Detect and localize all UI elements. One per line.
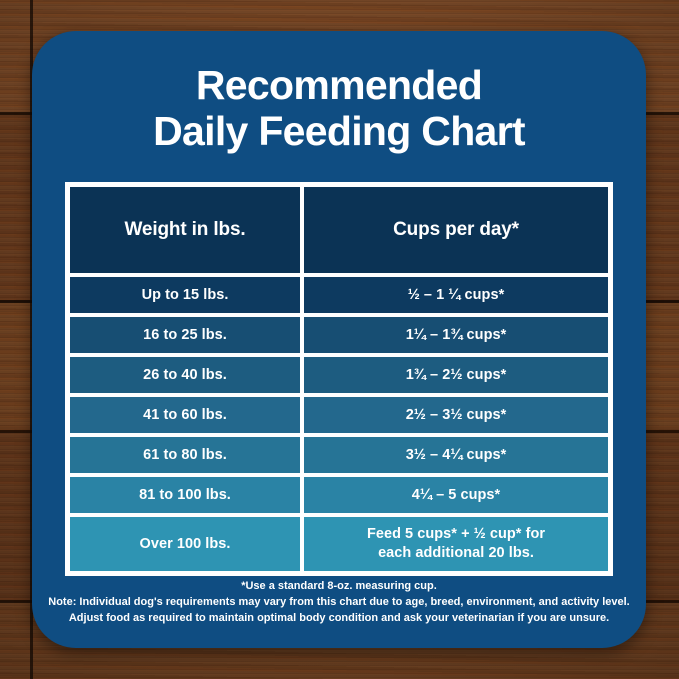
table-header-row: Weight in lbs. Cups per day* (68, 185, 610, 275)
cell-weight: 16 to 25 lbs. (68, 315, 302, 355)
table-row: Over 100 lbs. Feed 5 cups* + ½ cup* for … (68, 515, 610, 573)
footnote-line-2: Note: Individual dog's requirements may … (46, 595, 632, 611)
cell-cups-line-1: Feed 5 cups* + ½ cup* for (367, 525, 545, 544)
footnote-line-1: *Use a standard 8-oz. measuring cup. (46, 579, 632, 595)
cell-weight: Up to 15 lbs. (68, 275, 302, 315)
cell-cups: 2½ – 3½ cups* (302, 395, 610, 435)
page-title: Recommended Daily Feeding Chart (32, 63, 646, 155)
cell-cups: ½ – 1 ¼ cups* (302, 275, 610, 315)
cell-weight: Over 100 lbs. (68, 515, 302, 573)
column-header-cups: Cups per day* (302, 185, 610, 275)
table-row: 81 to 100 lbs. 4¼ – 5 cups* (68, 475, 610, 515)
cell-weight: 81 to 100 lbs. (68, 475, 302, 515)
cell-weight: 61 to 80 lbs. (68, 435, 302, 475)
page-title-line-2: Daily Feeding Chart (58, 109, 620, 155)
feeding-chart-card: Recommended Daily Feeding Chart Weight i… (32, 31, 646, 648)
cell-cups: 4¼ – 5 cups* (302, 475, 610, 515)
table-row: 61 to 80 lbs. 3½ – 4¼ cups* (68, 435, 610, 475)
cell-weight: 26 to 40 lbs. (68, 355, 302, 395)
table-row: 41 to 60 lbs. 2½ – 3½ cups* (68, 395, 610, 435)
cell-cups: 3½ – 4¼ cups* (302, 435, 610, 475)
page-title-line-1: Recommended (58, 63, 620, 109)
cell-cups: 1¾ – 2½ cups* (302, 355, 610, 395)
feeding-table: Weight in lbs. Cups per day* Up to 15 lb… (65, 182, 613, 576)
cell-cups-line-2: each additional 20 lbs. (367, 544, 545, 563)
table-row: Up to 15 lbs. ½ – 1 ¼ cups* (68, 275, 610, 315)
footnote: *Use a standard 8-oz. measuring cup. Not… (32, 579, 646, 627)
cell-cups: Feed 5 cups* + ½ cup* for each additiona… (302, 515, 610, 573)
cell-cups: 1¼ – 1¾ cups* (302, 315, 610, 355)
table-row: 26 to 40 lbs. 1¾ – 2½ cups* (68, 355, 610, 395)
table-row: 16 to 25 lbs. 1¼ – 1¾ cups* (68, 315, 610, 355)
column-header-weight: Weight in lbs. (68, 185, 302, 275)
footnote-line-3: Adjust food as required to maintain opti… (46, 611, 632, 627)
cell-weight: 41 to 60 lbs. (68, 395, 302, 435)
